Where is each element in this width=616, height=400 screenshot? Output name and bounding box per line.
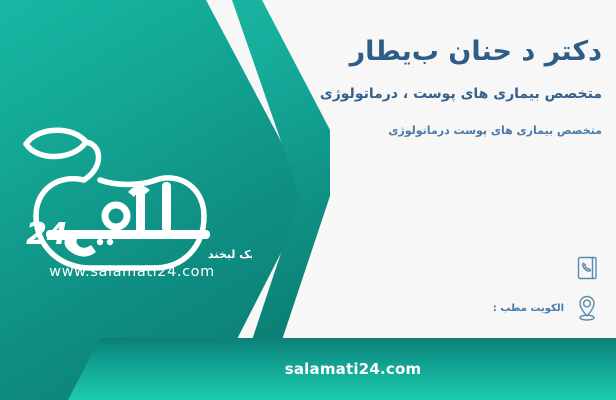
business-card: 24 به راحتی یک لبخند www.salamati24.com … [0,0,616,400]
logo-tagline: به راحتی یک لبخند [208,248,252,261]
contact-row-phone[interactable] [270,248,600,288]
logo-website: www.salamati24.com [49,264,215,278]
footer-bar: salamati24.com [0,338,616,400]
logo-number-24: 24 [26,217,68,252]
doctor-name: دکتر د حنان ب‌یطار [262,34,602,70]
contact-row-address[interactable]: الکویت مطب : [270,288,600,328]
apple-outline-icon: 24 به راحتی یک لبخند www.salamati24.com [12,118,252,278]
svg-text:24: 24 [26,217,68,252]
doctor-specialty: متخصص بیماری های پوست ، درماتولوژی [262,84,602,105]
phone-book-icon [574,253,600,283]
footer-website[interactable]: salamati24.com [0,338,616,400]
doctor-specialty-sub: متخصص بیماری های پوست درماتولوژی [262,123,602,140]
doctor-info: دکتر د حنان ب‌یطار متخصص بیماری های پوست… [262,34,602,140]
contact-address-label: الکویت مطب : [493,303,564,314]
salamati24-logo: 24 به راحتی یک لبخند www.salamati24.com [12,118,252,278]
contact-block: الکویت مطب : [270,248,600,328]
location-pin-icon [574,293,600,323]
